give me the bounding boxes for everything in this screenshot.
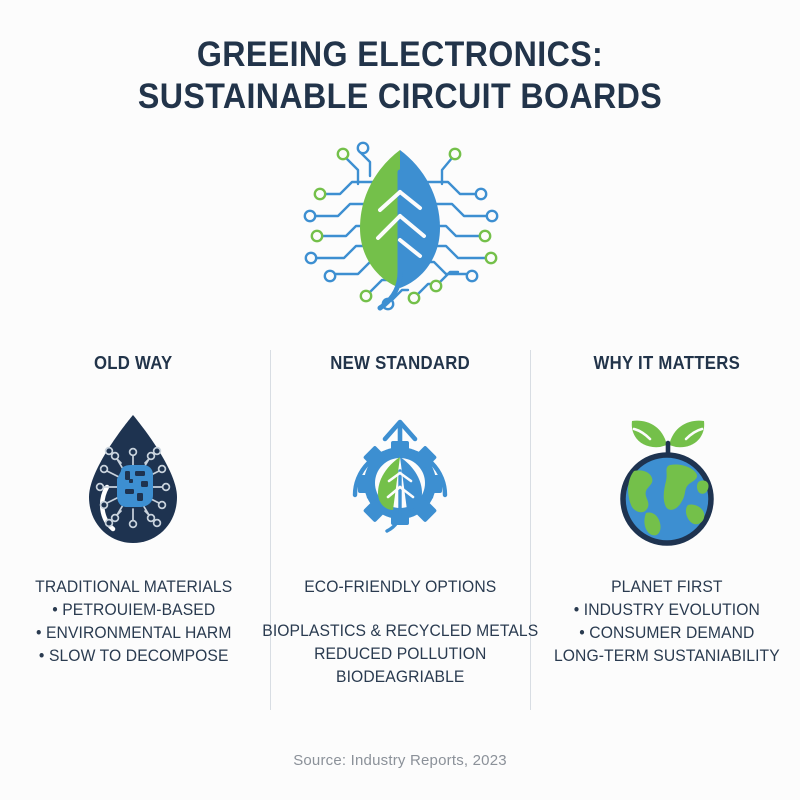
body-line: LONG-TERM SUSTANIABILITY <box>554 645 780 668</box>
body-line: BIOPLASTICS & RECYCLED METALS <box>262 620 538 643</box>
column-header-old-way: OLD WAY <box>94 353 173 374</box>
body-line: • INDUSTRY EVOLUTION <box>554 599 780 622</box>
column-body-old-way: TRADITIONAL MATERIALS • PETROUIEM-BASED … <box>35 576 232 668</box>
gear-leaf-arrow-icon <box>335 404 465 554</box>
column-header-why-it-matters: WHY IT MATTERS <box>593 353 740 374</box>
body-line: • SLOW TO DECOMPOSE <box>35 645 232 668</box>
body-line: PLANET FIRST <box>554 576 780 599</box>
column-body-new-standard: ECO-FRIENDLY OPTIONS BIOPLASTICS & RECYC… <box>262 576 538 689</box>
body-line: BIODEAGRIABLE <box>262 666 538 689</box>
body-spacer <box>262 599 538 620</box>
title-line-1: GREEING ELECTRONICS: <box>32 34 768 76</box>
body-line: ECO-FRIENDLY OPTIONS <box>262 576 538 599</box>
body-line: • ENVIRONMENTAL HARM <box>35 622 232 645</box>
column-header-new-standard: NEW STANDARD <box>330 353 470 374</box>
body-line: TRADITIONAL MATERIALS <box>35 576 232 599</box>
column-old-way: OLD WAY <box>0 345 267 715</box>
page-title: GREEING ELECTRONICS: SUSTAINABLE CIRCUIT… <box>0 34 800 118</box>
globe-sprout-icon <box>602 404 732 554</box>
circuit-leaf-icon <box>300 132 500 317</box>
comparison-columns: OLD WAY <box>0 345 800 715</box>
column-new-standard: NEW STANDARD <box>267 345 534 715</box>
column-body-why-it-matters: PLANET FIRST • INDUSTRY EVOLUTION • CONS… <box>554 576 780 668</box>
infographic-page: GREEING ELECTRONICS: SUSTAINABLE CIRCUIT… <box>0 0 800 800</box>
body-line: • CONSUMER DEMAND <box>554 622 780 645</box>
body-line: • PETROUIEM-BASED <box>35 599 232 622</box>
title-line-2: SUSTAINABLE CIRCUIT BOARDS <box>32 76 768 118</box>
body-line: REDUCED POLLUTION <box>262 643 538 666</box>
toxic-droplet-icon <box>73 404 193 554</box>
column-why-it-matters: WHY IT MATTERS <box>533 345 800 715</box>
source-note: Source: Industry Reports, 2023 <box>0 752 800 769</box>
